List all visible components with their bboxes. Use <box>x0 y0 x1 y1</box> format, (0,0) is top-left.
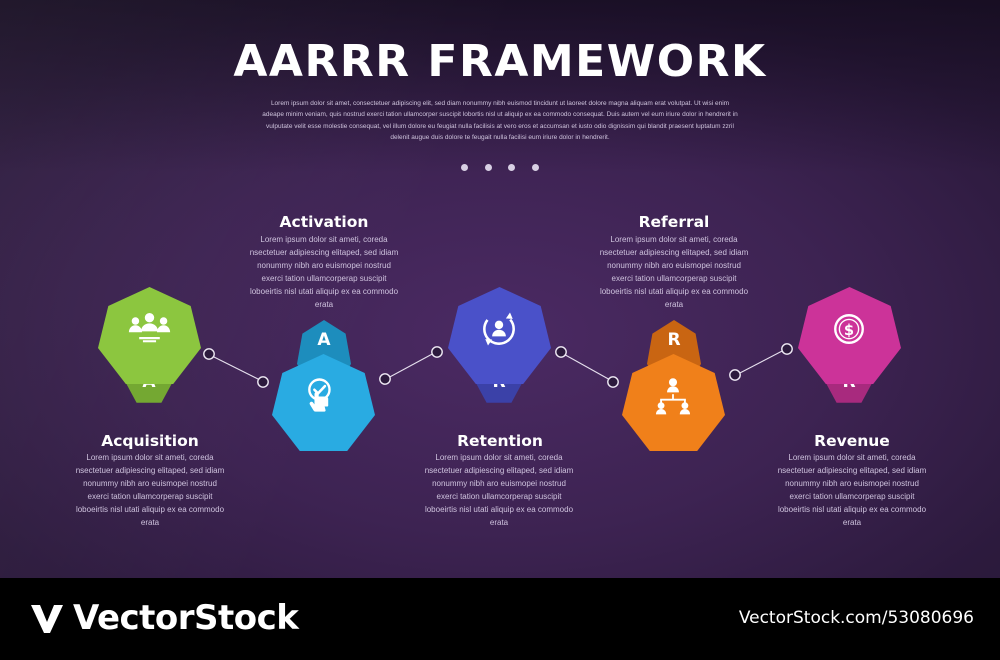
poster-artboard: AARRR FRAMEWORK Lorem ipsum dolor sit am… <box>0 0 1000 578</box>
acquisition-title: Acquisition <box>50 432 250 450</box>
acquisition-desc: Lorem ipsum dolor sit ameti, coreda nsec… <box>73 452 227 530</box>
hand-check-icon <box>302 374 346 423</box>
dollar-coin-icon: $ <box>827 307 871 356</box>
screenshot-root: AARRR FRAMEWORK Lorem ipsum dolor sit am… <box>0 0 1000 660</box>
retention-desc: Lorem ipsum dolor sit ameti, coreda nsec… <box>422 452 576 530</box>
vectorstock-brand: VectorStock <box>28 598 298 638</box>
referral-desc: Lorem ipsum dolor sit ameti, coreda nsec… <box>597 234 751 312</box>
vectorstock-logo-icon <box>28 599 66 637</box>
vectorstock-brand-text: VectorStock <box>73 598 298 638</box>
svg-text:$: $ <box>844 322 854 339</box>
network-users-icon <box>651 374 695 423</box>
activation-desc: Lorem ipsum dolor sit ameti, coreda nsec… <box>247 234 401 312</box>
activation-title: Activation <box>224 213 424 231</box>
revenue-title: Revenue <box>752 432 952 450</box>
retention-title: Retention <box>400 432 600 450</box>
watermark-footer: VectorStock VectorStock.com/53080696 <box>0 578 1000 660</box>
referral-title: Referral <box>574 213 774 231</box>
revenue-desc: Lorem ipsum dolor sit ameti, coreda nsec… <box>775 452 929 530</box>
vectorstock-url: VectorStock.com/53080696 <box>739 608 974 628</box>
user-refresh-icon <box>477 307 521 356</box>
referral-letter: R <box>647 330 701 350</box>
user-group-icon <box>127 306 172 356</box>
activation-letter: A <box>297 330 351 350</box>
